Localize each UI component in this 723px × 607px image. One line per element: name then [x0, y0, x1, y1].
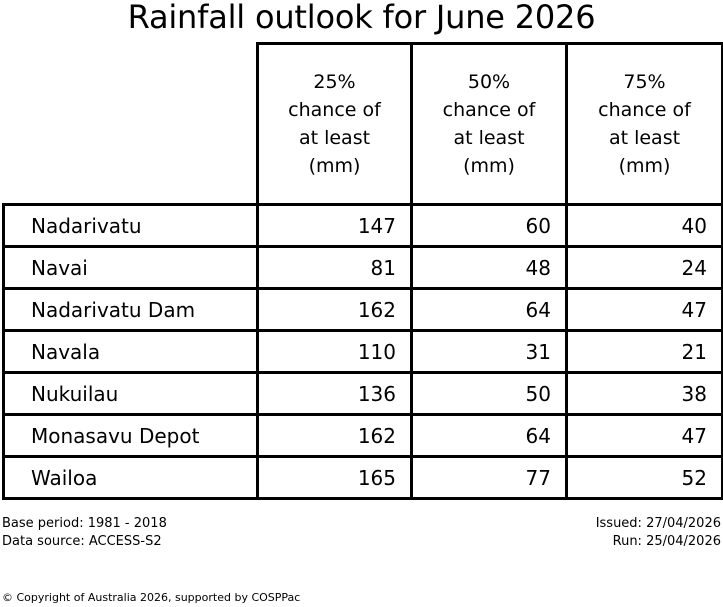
- base-period-text: Base period: 1981 - 2018: [2, 515, 167, 533]
- table-row: Wailoa 165 77 52: [4, 457, 723, 499]
- copyright-text: © Copyright of Australia 2026, supported…: [2, 591, 300, 605]
- cell-p50: 64: [412, 289, 567, 331]
- header-p25-line-1: 25%: [313, 71, 355, 93]
- header-p75-line-2: chance of: [598, 99, 691, 121]
- cell-p75: 24: [567, 247, 723, 289]
- cell-p50: 77: [412, 457, 567, 499]
- cell-location: Nadarivatu Dam: [4, 289, 258, 331]
- cell-p75: 47: [567, 289, 723, 331]
- table-row: Navala 110 31 21: [4, 331, 723, 373]
- cell-p25: 136: [258, 373, 412, 415]
- rainfall-outlook-table: 25% chance of at least (mm) 50% chance o…: [2, 42, 723, 500]
- header-p25-line-4: (mm): [309, 155, 361, 177]
- table-header: 25% chance of at least (mm) 50% chance o…: [4, 44, 723, 205]
- table-header-row: 25% chance of at least (mm) 50% chance o…: [4, 44, 723, 205]
- cell-p75: 52: [567, 457, 723, 499]
- footer-left-block: Base period: 1981 - 2018 Data source: AC…: [2, 515, 167, 551]
- table-row: Nadarivatu Dam 162 64 47: [4, 289, 723, 331]
- cell-p25: 110: [258, 331, 412, 373]
- run-date-text: Run: 25/04/2026: [596, 533, 721, 551]
- header-cell-p75: 75% chance of at least (mm): [567, 44, 723, 205]
- cell-p50: 60: [412, 205, 567, 247]
- cell-p50: 48: [412, 247, 567, 289]
- header-p50-line-3: at least: [453, 127, 524, 149]
- table-body: Nadarivatu 147 60 40 Navai 81 48 24 Nada…: [4, 205, 723, 499]
- issued-date-text: Issued: 27/04/2026: [596, 515, 721, 533]
- data-source-text: Data source: ACCESS-S2: [2, 533, 167, 551]
- cell-location: Navai: [4, 247, 258, 289]
- footer: Base period: 1981 - 2018 Data source: AC…: [0, 515, 723, 557]
- cell-p50: 50: [412, 373, 567, 415]
- cell-p50: 31: [412, 331, 567, 373]
- header-p75-line-4: (mm): [619, 155, 671, 177]
- cell-location: Nukuilau: [4, 373, 258, 415]
- cell-p50: 64: [412, 415, 567, 457]
- table-row: Nadarivatu 147 60 40: [4, 205, 723, 247]
- header-p50-line-2: chance of: [443, 99, 536, 121]
- cell-location: Nadarivatu: [4, 205, 258, 247]
- cell-p25: 81: [258, 247, 412, 289]
- cell-p25: 162: [258, 289, 412, 331]
- header-p25-line-2: chance of: [288, 99, 381, 121]
- page-title: Rainfall outlook for June 2026: [0, 0, 723, 36]
- header-p25-line-3: at least: [299, 127, 370, 149]
- header-p75-line-1: 75%: [623, 71, 665, 93]
- table-row: Navai 81 48 24: [4, 247, 723, 289]
- header-p50-line-1: 50%: [468, 71, 510, 93]
- cell-p75: 38: [567, 373, 723, 415]
- cell-p75: 40: [567, 205, 723, 247]
- header-cell-p50: 50% chance of at least (mm): [412, 44, 567, 205]
- table-row: Nukuilau 136 50 38: [4, 373, 723, 415]
- header-p75-line-3: at least: [609, 127, 680, 149]
- cell-location: Monasavu Depot: [4, 415, 258, 457]
- cell-p25: 165: [258, 457, 412, 499]
- footer-right-block: Issued: 27/04/2026 Run: 25/04/2026: [596, 515, 721, 551]
- cell-location: Wailoa: [4, 457, 258, 499]
- table-row: Monasavu Depot 162 64 47: [4, 415, 723, 457]
- cell-location: Navala: [4, 331, 258, 373]
- cell-p25: 162: [258, 415, 412, 457]
- header-cell-location: [4, 44, 258, 205]
- header-p50-line-4: (mm): [463, 155, 515, 177]
- header-cell-p25: 25% chance of at least (mm): [258, 44, 412, 205]
- cell-p75: 21: [567, 331, 723, 373]
- cell-p75: 47: [567, 415, 723, 457]
- cell-p25: 147: [258, 205, 412, 247]
